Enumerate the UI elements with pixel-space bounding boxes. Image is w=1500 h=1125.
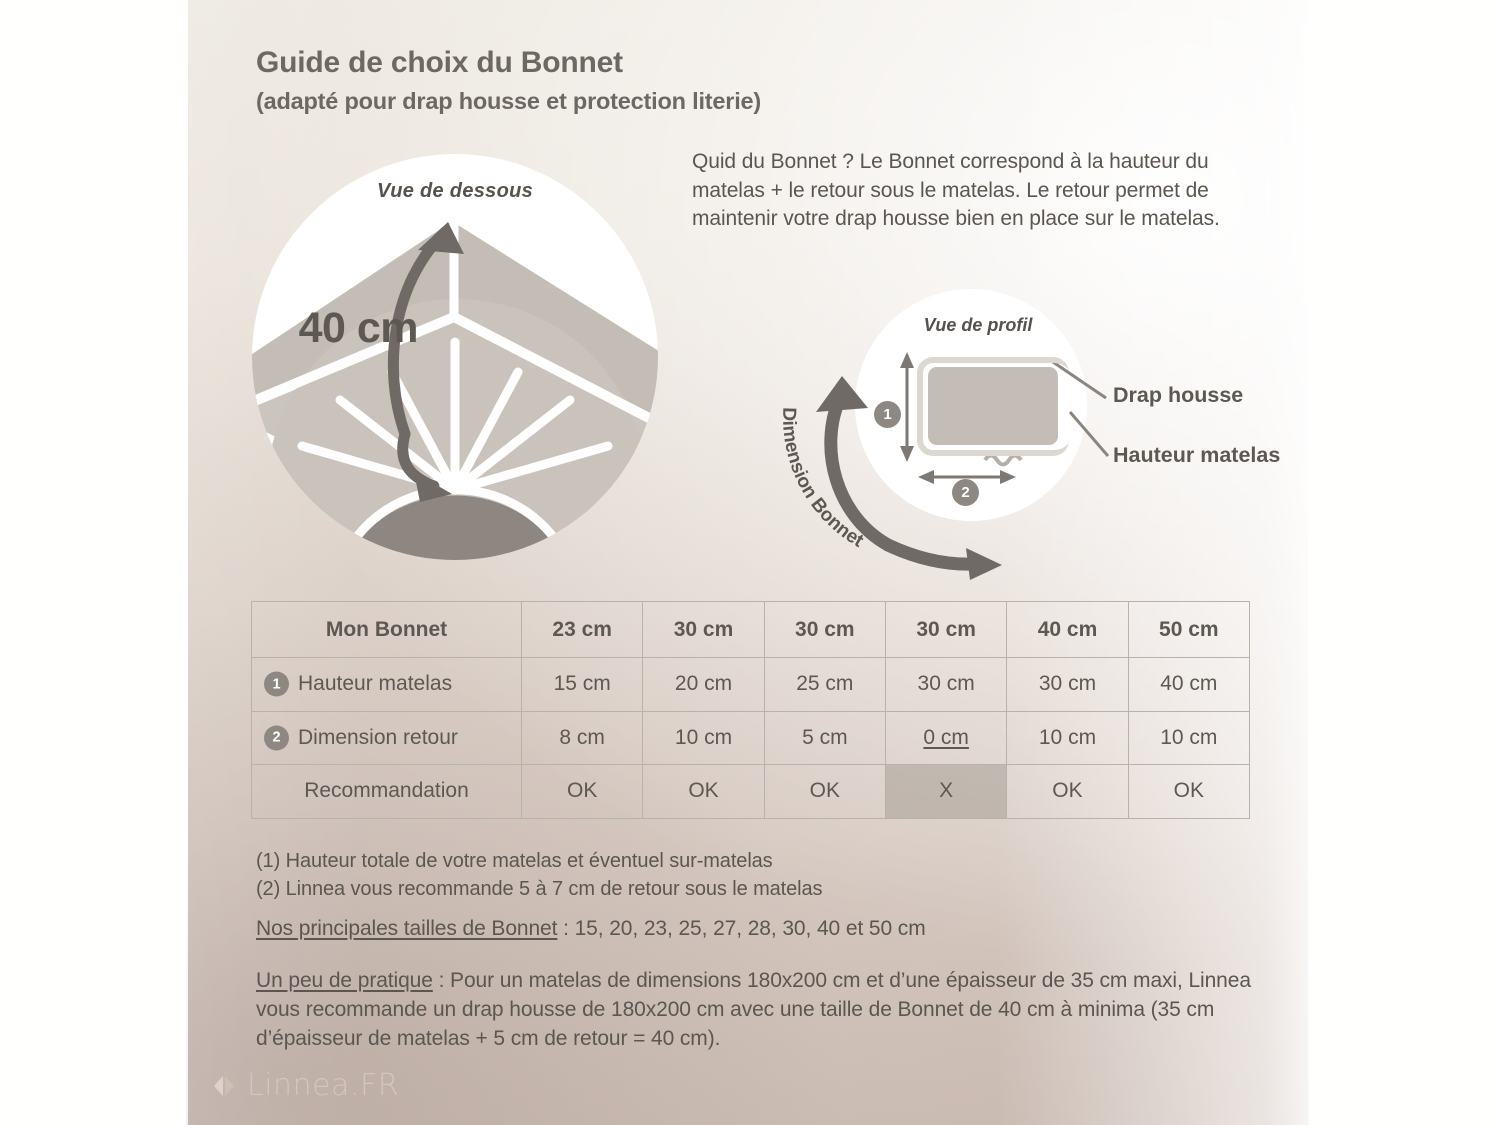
infographic-page: Guide de choix du Bonnet (adapté pour dr… (0, 0, 1500, 1125)
row-badge-1: 1 (264, 672, 289, 697)
practice-paragraph: Un peu de pratique : Pour un matelas de … (256, 966, 1256, 1053)
row-label: Hauteur matelas (298, 672, 452, 695)
table-cell: OK (1007, 765, 1128, 819)
table-cell: 40 cm (1128, 658, 1249, 712)
mattress-block (928, 367, 1058, 445)
table-cell: 30 cm (643, 602, 764, 658)
table-cell: 23 cm (522, 602, 643, 658)
mattress-corner-illustration (252, 154, 658, 560)
table-cell: 30 cm (1007, 658, 1128, 712)
sizes-rest: : 15, 20, 23, 25, 27, 28, 30, 40 et 50 c… (557, 917, 925, 940)
bottom-view-caption: Vue de dessous (252, 180, 658, 203)
row-label: Dimension retour (298, 726, 458, 749)
table-cell: OK (1128, 765, 1249, 819)
table-cell: 0 cm (885, 711, 1006, 765)
row-label-cell: 1 Hauteur matelas (252, 658, 522, 712)
table-cell: 25 cm (764, 658, 885, 712)
bottom-view-measurement: 40 cm (258, 304, 418, 353)
table-cell: 30 cm (885, 602, 1006, 658)
table-cell: 20 cm (643, 658, 764, 712)
footnotes: (1) Hauteur totale de votre matelas et é… (256, 847, 822, 903)
row-label-cell: 2 Dimension retour (252, 711, 522, 765)
logo[interactable]: Linnea.FR (212, 1068, 399, 1103)
profile-badge-2: 2 (952, 479, 979, 506)
page-subtitle: (adapté pour drap housse et protection l… (256, 88, 761, 115)
table-row-dimension-retour: 2 Dimension retour 8 cm 10 cm 5 cm 0 cm … (252, 711, 1250, 765)
row-badge-2: 2 (264, 725, 289, 750)
footnote-1: (1) Hauteur totale de votre matelas et é… (256, 847, 822, 875)
footnote-2: (2) Linnea vous recommande 5 à 7 cm de r… (256, 875, 822, 903)
row-label: Mon Bonnet (252, 602, 522, 658)
page-title: Guide de choix du Bonnet (256, 47, 623, 79)
svg-text:Dimension Bonnet: Dimension Bonnet (778, 407, 867, 552)
table-cell: 10 cm (1007, 711, 1128, 765)
table-row-mon-bonnet: Mon Bonnet 23 cm 30 cm 30 cm 30 cm 40 cm… (252, 602, 1250, 658)
table-cell: 10 cm (643, 711, 764, 765)
table-cell: 40 cm (1007, 602, 1128, 658)
diamond-leaf-icon (212, 1073, 236, 1099)
logo-text: Linnea.FR (247, 1068, 399, 1103)
profile-view-caption: Vue de profil (888, 315, 1068, 336)
callout-drap-housse: Drap housse (1113, 383, 1243, 408)
table-row-hauteur-matelas: 1 Hauteur matelas 15 cm 20 cm 25 cm 30 c… (252, 658, 1250, 712)
profile-badge-1: 1 (874, 401, 901, 428)
left-white-band (0, 0, 188, 1125)
bonnet-size-table: Mon Bonnet 23 cm 30 cm 30 cm 30 cm 40 cm… (251, 601, 1250, 819)
callout-hauteur-matelas: Hauteur matelas (1113, 441, 1283, 469)
table-row-recommandation: Recommandation OK OK OK X OK OK (252, 765, 1250, 819)
table-cell: OK (522, 765, 643, 819)
table-cell: 5 cm (764, 711, 885, 765)
sizes-line: Nos principales tailles de Bonnet : 15, … (256, 917, 926, 941)
table-cell: OK (643, 765, 764, 819)
practice-heading: Un peu de pratique (256, 969, 433, 992)
table-cell-not-recommended: X (885, 765, 1006, 819)
dimension-bonnet-curved-label: Dimension Bonnet (778, 407, 867, 552)
intro-paragraph: Quid du Bonnet ? Le Bonnet correspond à … (692, 148, 1262, 234)
row-label: Recommandation (252, 765, 522, 819)
table-cell: 30 cm (764, 602, 885, 658)
bottom-view-diagram: Vue de dessous 40 cm (252, 154, 658, 560)
table-cell: 10 cm (1128, 711, 1249, 765)
table-cell: 8 cm (522, 711, 643, 765)
table-cell: 50 cm (1128, 602, 1249, 658)
table-cell: 15 cm (522, 658, 643, 712)
right-white-band (1308, 0, 1500, 1125)
sizes-heading: Nos principales tailles de Bonnet (256, 917, 557, 940)
table-cell: OK (764, 765, 885, 819)
highlighted-value: 0 cm (923, 726, 969, 749)
table-cell: 30 cm (885, 658, 1006, 712)
